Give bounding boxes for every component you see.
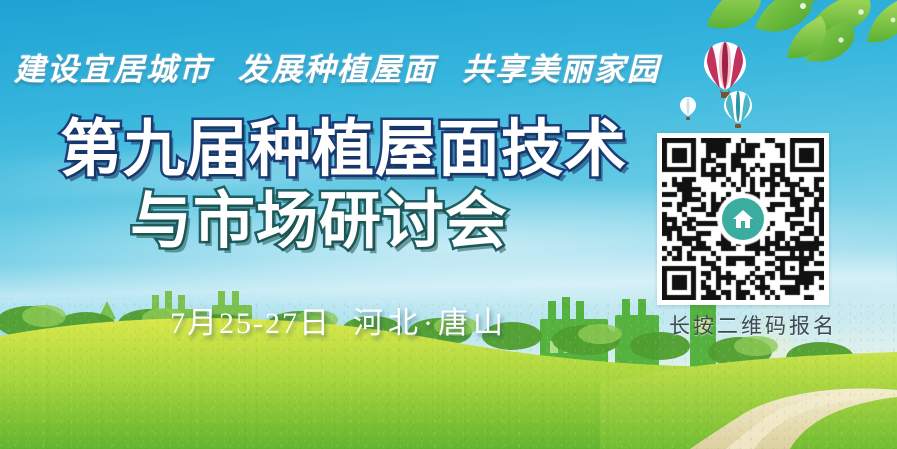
main-title: 第九届种植屋面技术 与市场研讨会 — [60, 118, 630, 252]
title-line-2: 与市场研讨会 — [130, 190, 630, 252]
slogan-part-3: 共享美丽家园 — [462, 52, 660, 87]
event-date: 7月25-27日 — [170, 307, 331, 340]
house-icon — [722, 198, 764, 240]
qr-code[interactable] — [657, 133, 829, 305]
hot-air-balloon-teal-icon — [723, 90, 753, 137]
top-slogan: 建设宜居城市发展种植屋面共享美丽家园 — [14, 44, 660, 89]
event-location: 河北·唐山 — [353, 307, 508, 340]
qr-caption: 长按二维码报名 — [658, 310, 848, 340]
green-leaves-icon — [635, 0, 897, 84]
slogan-part-2: 发展种植屋面 — [238, 52, 436, 87]
slogan-part-1: 建设宜居城市 — [14, 52, 212, 87]
title-line-1: 第九届种植屋面技术 — [60, 118, 630, 180]
event-date-location: 7月25-27日河北·唐山 — [170, 298, 508, 342]
event-poster: 建设宜居城市发展种植屋面共享美丽家园 第九届种植屋面技术 与市场研讨会 7月25… — [0, 0, 897, 449]
hot-air-balloon-white-icon — [679, 96, 697, 127]
